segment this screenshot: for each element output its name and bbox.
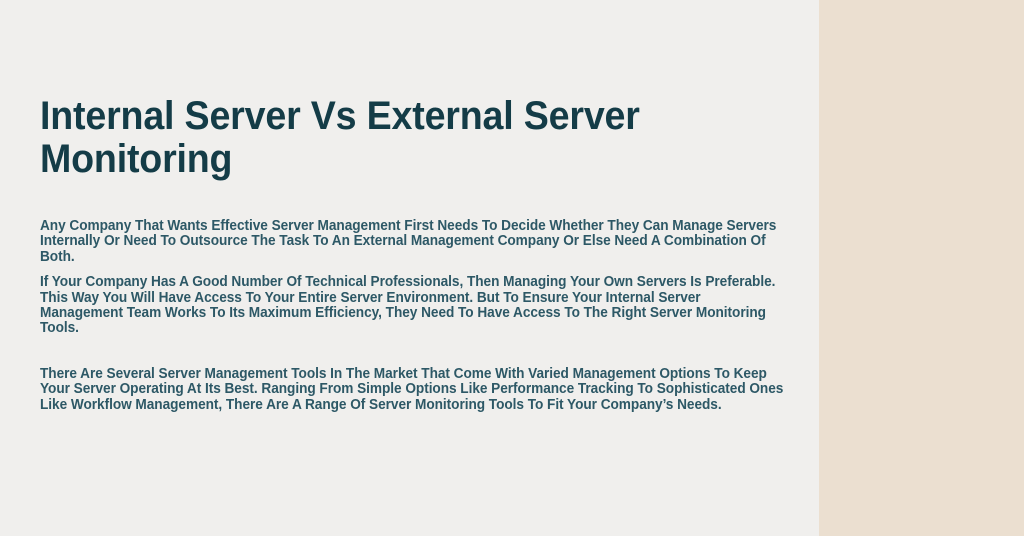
page-title: Internal Server Vs External Server Monit…: [40, 95, 679, 181]
body-paragraph-3: There Are Several Server Management Tool…: [40, 367, 787, 413]
slide-content-panel: Internal Server Vs External Server Monit…: [0, 0, 819, 536]
body-paragraph-1: Any Company That Wants Effective Server …: [40, 219, 787, 265]
body-paragraph-2: If Your Company Has A Good Number Of Tec…: [40, 275, 787, 337]
body-copy: Any Company That Wants Effective Server …: [40, 219, 822, 413]
slide-canvas: Internal Server Vs External Server Monit…: [0, 0, 1024, 536]
decorative-right-panel: [819, 0, 1024, 536]
